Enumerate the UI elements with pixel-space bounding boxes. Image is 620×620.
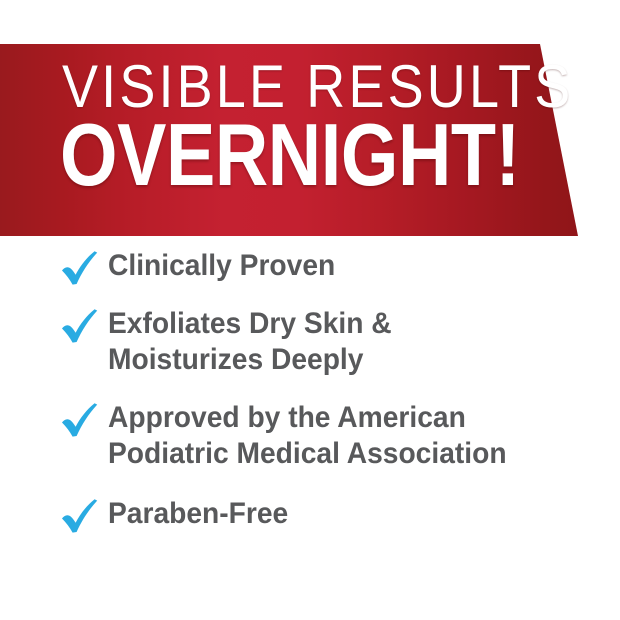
list-item-label: Approved by the American Podiatric Medic… (108, 400, 507, 472)
list-item: Clinically Proven (0, 248, 620, 292)
headline-banner: VISIBLE RESULTS OVERNIGHT! (0, 44, 620, 236)
promo-graphic: VISIBLE RESULTS OVERNIGHT! Clinically Pr… (0, 0, 620, 620)
checkmark-icon (60, 402, 100, 444)
list-item-label: Exfoliates Dry Skin & Moisturizes Deeply (108, 306, 392, 378)
list-item-label: Paraben-Free (108, 496, 288, 532)
checkmark-icon (60, 250, 100, 292)
list-item: Paraben-Free (0, 496, 620, 540)
checkmark-icon (60, 308, 100, 350)
checkmark-icon (60, 498, 100, 540)
banner-text-group: VISIBLE RESULTS OVERNIGHT! (60, 44, 530, 236)
list-item: Approved by the American Podiatric Medic… (0, 400, 620, 472)
list-item-label: Clinically Proven (108, 248, 335, 284)
benefits-checklist: Clinically Proven Exfoliates Dry Skin & … (0, 248, 620, 540)
list-item: Exfoliates Dry Skin & Moisturizes Deeply (0, 306, 620, 378)
headline-line-2: OVERNIGHT! (60, 110, 520, 200)
